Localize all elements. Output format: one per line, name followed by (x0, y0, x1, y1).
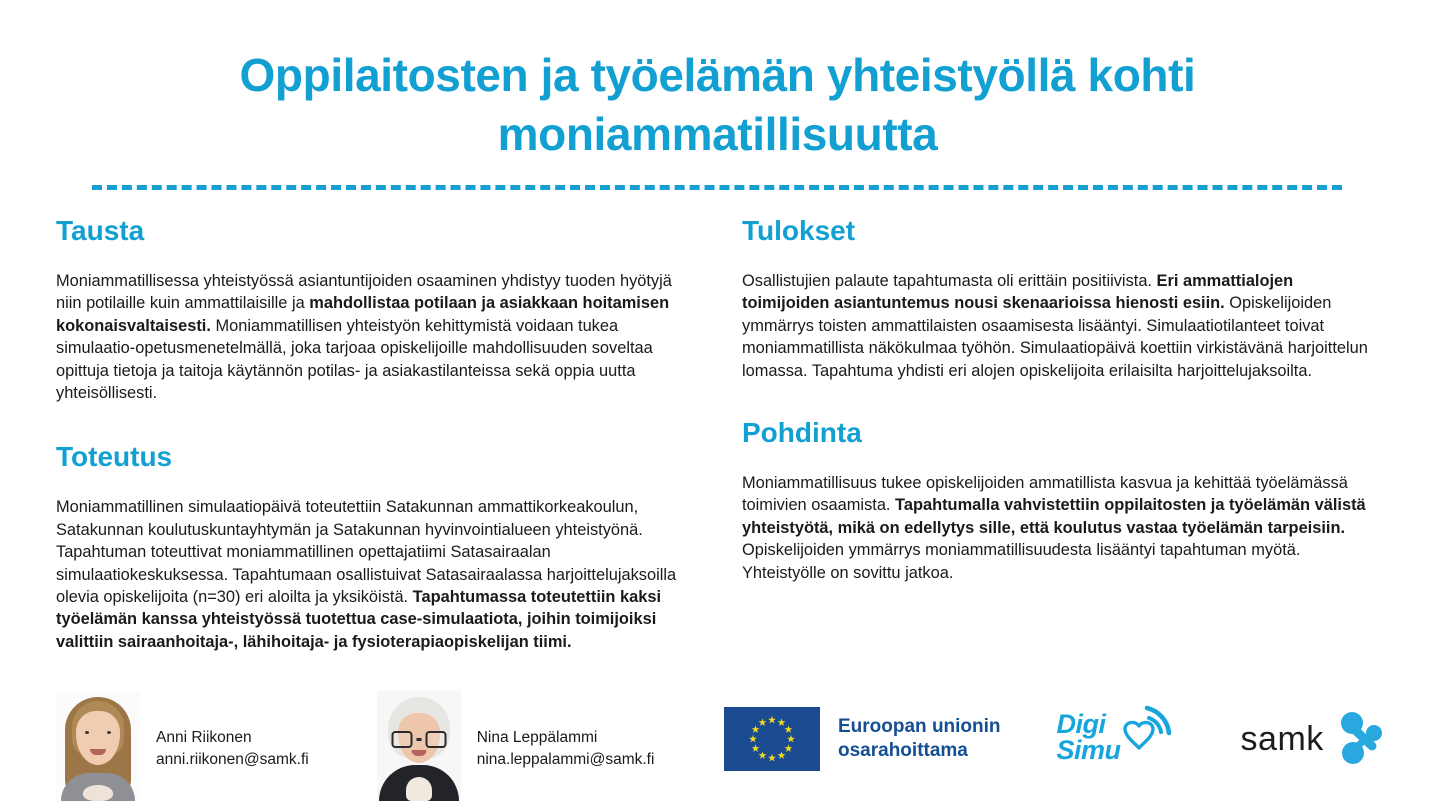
samk-logo: samk (1241, 710, 1384, 768)
author-entry: Nina Leppälammi nina.leppalammi@samk.fi (377, 691, 655, 801)
section-heading-pohdinta: Pohdinta (742, 416, 1382, 450)
tulokset-text-1: Osallistujien palaute tapahtumasta oli e… (742, 272, 1157, 290)
author-info: Anni Riikonen anni.riikonen@samk.fi (156, 727, 309, 801)
author-name: Anni Riikonen (156, 727, 309, 749)
section-heading-tulokset: Tulokset (742, 214, 1382, 248)
section-tausta: Tausta Moniammatillisessa yhteistyössä a… (56, 214, 696, 404)
section-body-tulokset: Osallistujien palaute tapahtumasta oli e… (742, 270, 1382, 382)
left-column: Tausta Moniammatillisessa yhteistyössä a… (56, 214, 696, 681)
eu-text-line-1: Euroopan unionin (838, 715, 1001, 739)
author-info: Nina Leppälammi nina.leppalammi@samk.fi (477, 727, 655, 801)
section-pohdinta: Pohdinta Moniammatillisuus tukee opiskel… (742, 416, 1382, 584)
avatar (377, 691, 461, 801)
samk-wordmark: samk (1241, 722, 1324, 756)
eu-funding-text: Euroopan unionin osarahoittama (838, 715, 1001, 763)
eu-funding-logo: Euroopan unionin osarahoittama (724, 707, 1001, 771)
author-email: anni.riikonen@samk.fi (156, 749, 309, 771)
author-list: Anni Riikonen anni.riikonen@samk.fi Nina… (56, 691, 654, 801)
section-body-pohdinta: Moniammatillisuus tukee opiskelijoiden a… (742, 472, 1382, 584)
section-heading-toteutus: Toteutus (56, 440, 696, 474)
poster-canvas: Oppilaitosten ja työelämän yhteistyöllä … (0, 0, 1432, 801)
eu-flag-icon (724, 707, 820, 771)
page-title: Oppilaitosten ja työelämän yhteistyöllä … (110, 46, 1325, 164)
digisimu-heart-wifi-icon (1057, 699, 1203, 779)
section-toteutus: Toteutus Moniammatillinen simulaatiopäiv… (56, 440, 696, 653)
author-email: nina.leppalammi@samk.fi (477, 749, 655, 771)
pohdinta-text-2: Opiskelijoiden ymmärrys moniammatillisuu… (742, 541, 1300, 581)
digisimu-logo: Digi Simu (1057, 699, 1203, 779)
title-divider (92, 185, 1342, 190)
logo-bar: Euroopan unionin osarahoittama Digi Simu… (724, 694, 1384, 784)
avatar (56, 691, 140, 801)
section-heading-tausta: Tausta (56, 214, 696, 248)
section-tulokset: Tulokset Osallistujien palaute tapahtuma… (742, 214, 1382, 382)
eu-stars-icon (724, 707, 820, 771)
author-entry: Anni Riikonen anni.riikonen@samk.fi (56, 691, 309, 801)
right-column: Tulokset Osallistujien palaute tapahtuma… (742, 214, 1382, 612)
section-body-tausta: Moniammatillisessa yhteistyössä asiantun… (56, 270, 696, 404)
eu-text-line-2: osarahoittama (838, 739, 1001, 763)
section-body-toteutus: Moniammatillinen simulaatiopäivä toteute… (56, 496, 696, 653)
samk-mark-icon (1336, 710, 1384, 768)
author-name: Nina Leppälammi (477, 727, 655, 749)
